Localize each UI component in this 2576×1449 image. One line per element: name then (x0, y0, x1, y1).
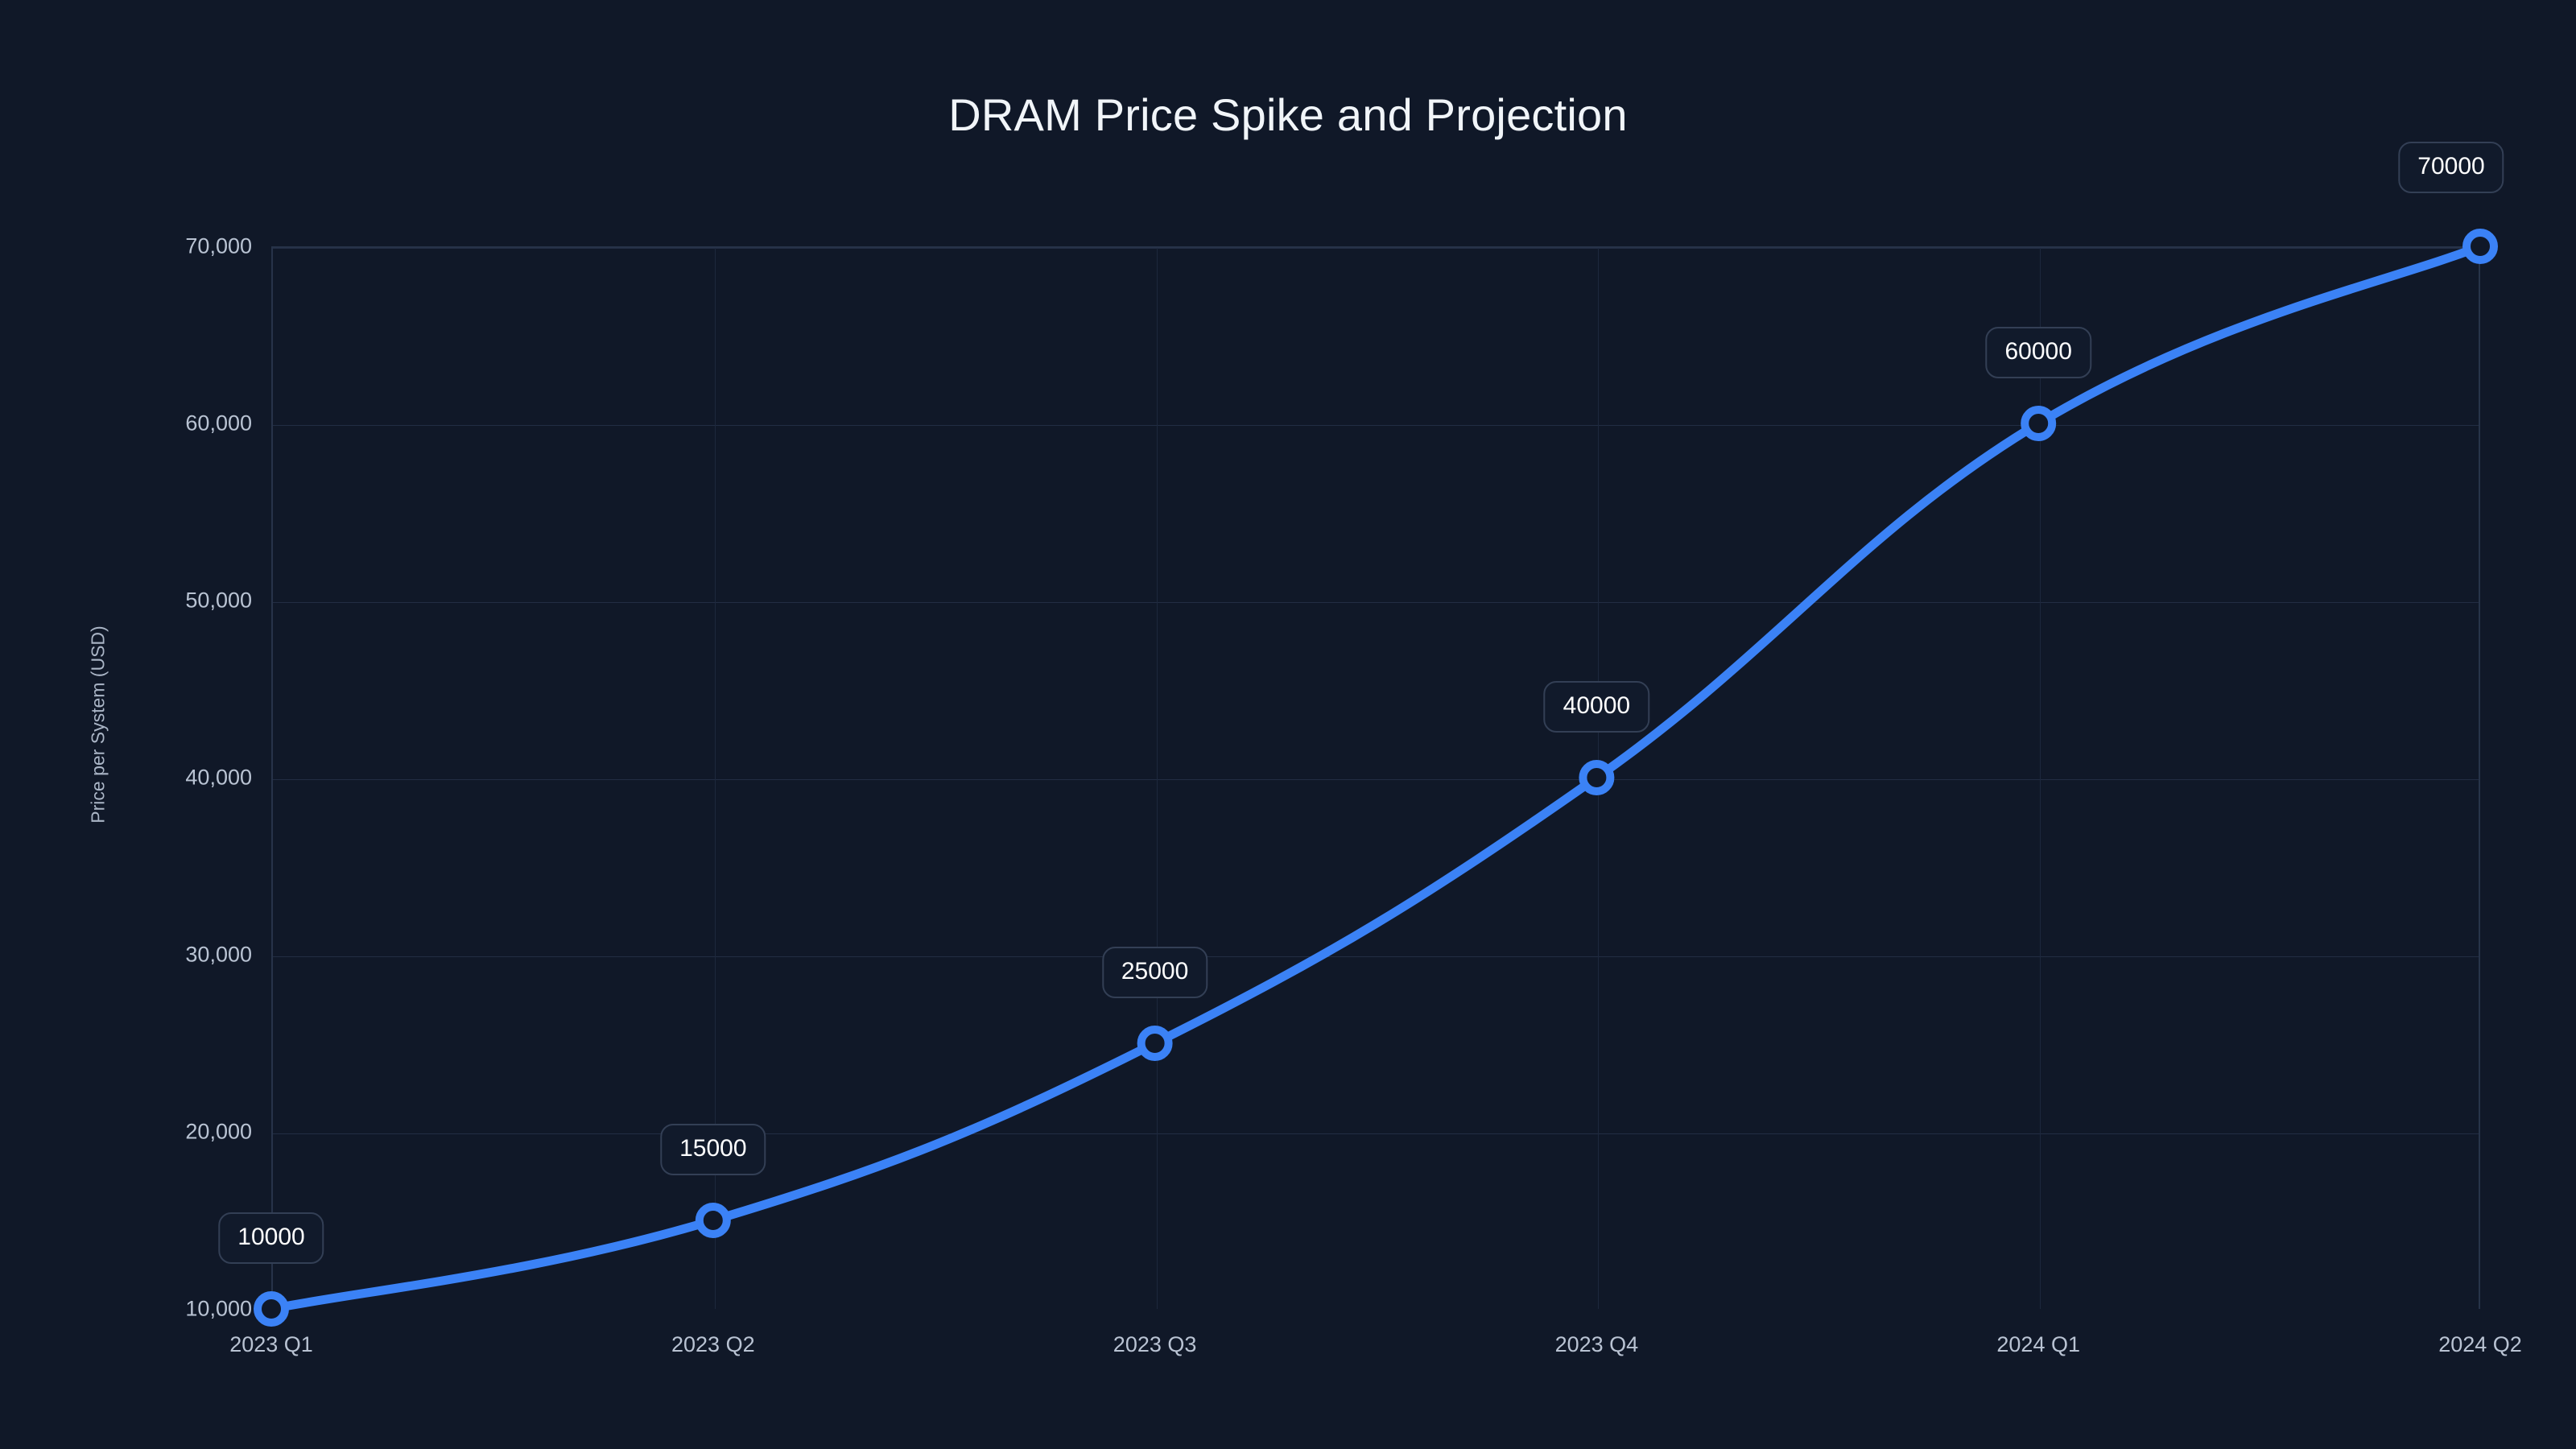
gridline-vertical (1157, 248, 1158, 1309)
x-axis-tick-label: 2023 Q2 (671, 1332, 755, 1357)
gridline-horizontal (273, 1133, 2479, 1134)
x-axis-tick-group: 2023 Q12023 Q22023 Q32023 Q42024 Q12024 … (0, 1332, 2576, 1364)
gridline-horizontal (273, 602, 2479, 603)
data-point-value-label: 10000 (218, 1212, 324, 1264)
data-point-value-label: 70000 (2398, 142, 2504, 193)
x-axis-tick-label: 2023 Q1 (229, 1332, 313, 1357)
gridline-horizontal (273, 248, 2479, 249)
chart-title: DRAM Price Spike and Projection (0, 90, 2576, 140)
y-axis-tick-label: 40,000 (185, 766, 252, 791)
gridline-horizontal (273, 425, 2479, 426)
data-point-value-label: 25000 (1102, 947, 1207, 998)
chart-canvas: DRAM Price Spike and Projection Price pe… (0, 0, 2576, 1449)
gridline-vertical (1598, 248, 1599, 1309)
y-axis-tick-label: 60,000 (185, 411, 252, 436)
y-axis-tick-label: 30,000 (185, 943, 252, 968)
data-point-value-label: 40000 (1544, 681, 1649, 733)
data-point-value-label: 15000 (660, 1124, 766, 1175)
y-axis-tick-group: 10,00020,00030,00040,00050,00060,00070,0… (0, 0, 252, 1449)
gridline-horizontal (273, 956, 2479, 957)
x-axis-tick-label: 2024 Q2 (2438, 1332, 2522, 1357)
y-axis-tick-label: 50,000 (185, 588, 252, 613)
plot-area (271, 246, 2480, 1309)
data-point-value-label: 60000 (1985, 327, 2091, 378)
x-axis-tick-label: 2024 Q1 (1996, 1332, 2080, 1357)
x-axis-tick-label: 2023 Q4 (1555, 1332, 1639, 1357)
gridline-vertical (2040, 248, 2041, 1309)
y-axis-tick-label: 10,000 (185, 1297, 252, 1322)
y-axis-tick-label: 70,000 (185, 234, 252, 259)
y-axis-tick-label: 20,000 (185, 1120, 252, 1145)
gridline-horizontal (273, 779, 2479, 780)
x-axis-tick-label: 2023 Q3 (1113, 1332, 1197, 1357)
